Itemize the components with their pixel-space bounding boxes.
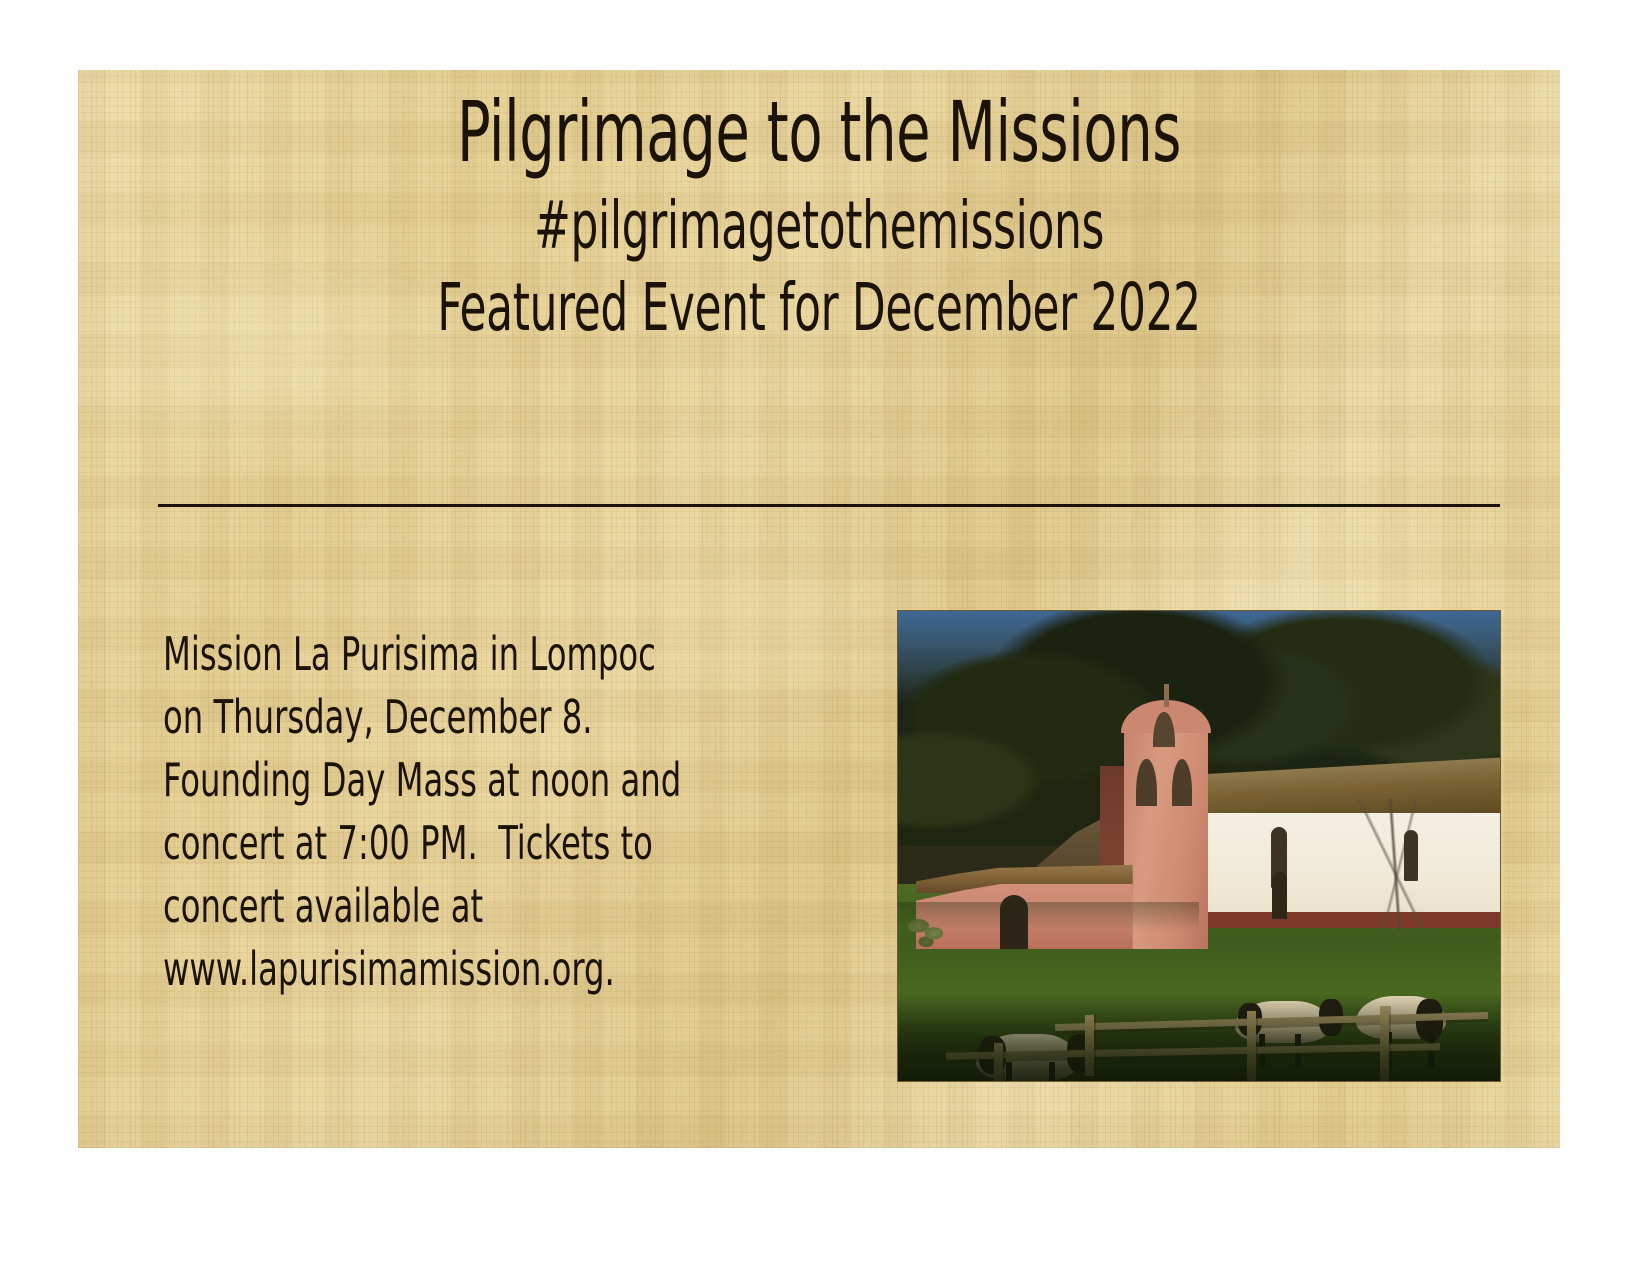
- church-doorway: [1272, 872, 1288, 919]
- field-shadow: [898, 902, 1199, 930]
- ticket-url-text: www.lapurisimamission.org.: [163, 938, 662, 1001]
- slide-canvas: Pilgrimage to the Missions #pilgrimageto…: [0, 0, 1650, 1275]
- hashtag-line: #pilgrimagetothemissions: [271, 184, 1368, 268]
- event-detail-line: Founding Day Mass at noon and: [163, 749, 662, 812]
- event-detail-line: concert available at: [163, 875, 662, 938]
- page-title: Pilgrimage to the Missions: [271, 80, 1368, 184]
- event-detail-line: concert at 7:00 PM. Tickets to: [163, 812, 662, 875]
- mission-photo-image: [898, 611, 1500, 1081]
- bell-tower-finial: [1164, 684, 1169, 708]
- subtitle-line: Featured Event for December 2022: [271, 268, 1368, 348]
- event-details-text: Mission La Purisima in Lompoc on Thursda…: [163, 623, 803, 1001]
- church-window: [1404, 830, 1418, 882]
- event-detail-line: on Thursday, December 8.: [163, 686, 662, 749]
- bare-tree: [1319, 799, 1476, 931]
- event-detail-line: Mission La Purisima in Lompoc: [163, 623, 662, 686]
- horizontal-rule: [158, 504, 1500, 507]
- foreground-shadow: [898, 996, 1500, 1081]
- mission-photo: [897, 610, 1501, 1082]
- textured-background-panel: Pilgrimage to the Missions #pilgrimageto…: [78, 70, 1560, 1148]
- title-block: Pilgrimage to the Missions #pilgrimageto…: [78, 80, 1560, 348]
